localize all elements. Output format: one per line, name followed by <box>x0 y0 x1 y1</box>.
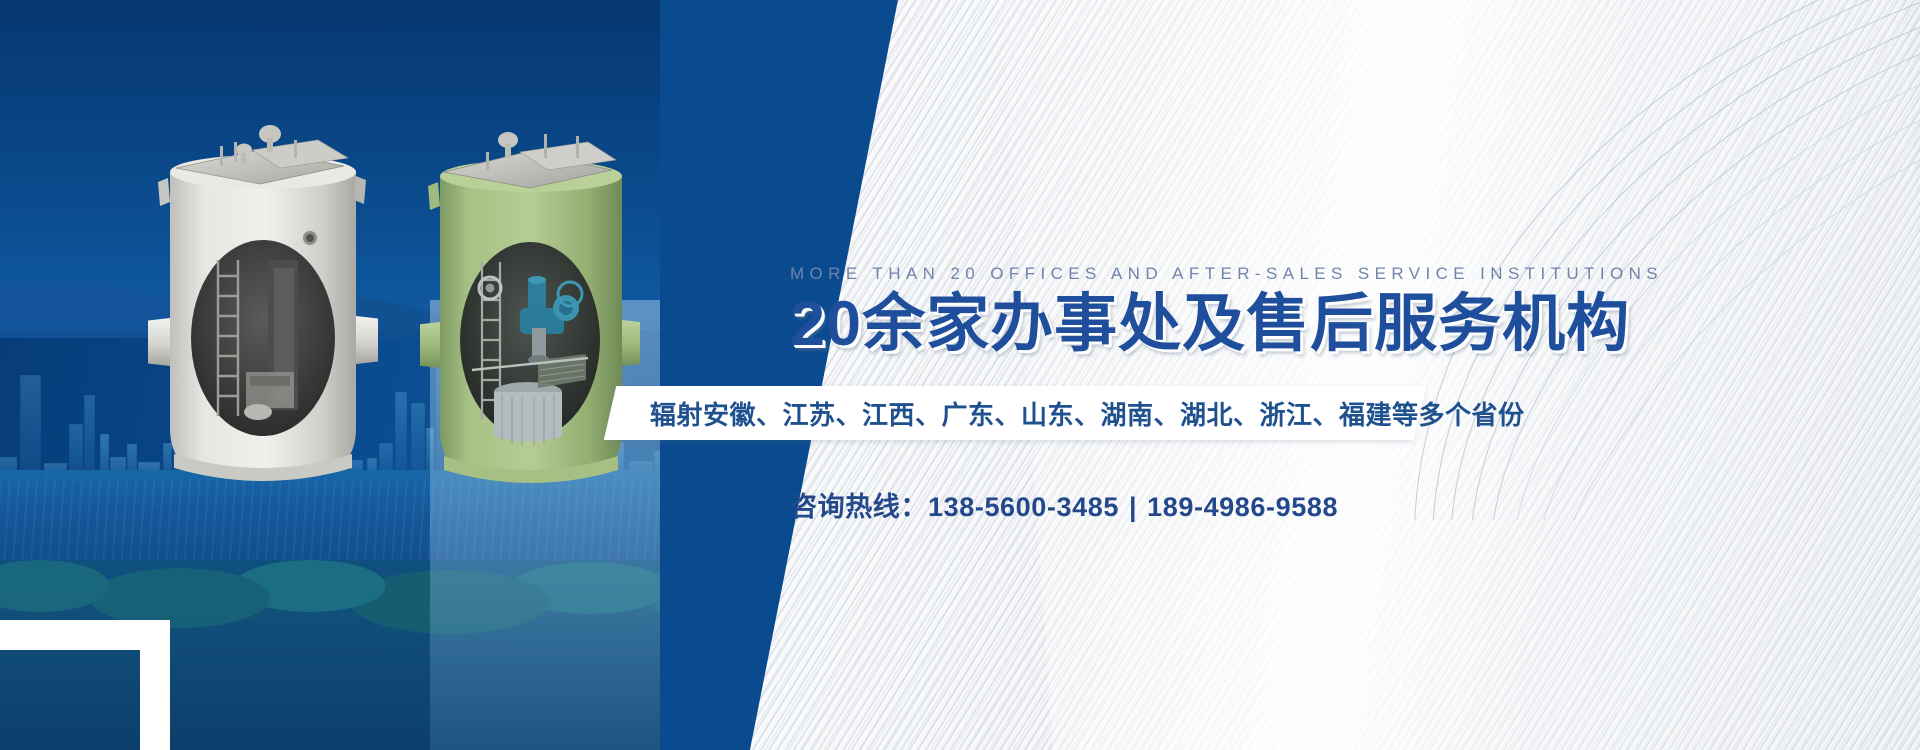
headline-title: 20余家办事处及售后服务机构 <box>790 292 1630 358</box>
callout-province-list: 辐射安徽、江苏、江西、广东、山东、湖南、湖北、浙江、福建等多个省份 <box>650 388 1430 438</box>
promo-banner: MORE THAN 20 OFFICES AND AFTER-SALES SER… <box>0 0 1920 750</box>
hotline-label: 咨询热线： <box>790 492 928 522</box>
hotline-separator: | <box>1119 492 1147 522</box>
hotline-primary-number[interactable]: 138-5600-3485 <box>928 492 1119 522</box>
hotline-secondary-number[interactable]: 189-4986-9588 <box>1147 492 1338 522</box>
hotline-row: 咨询热线：138-5600-3485|189-4986-9588 <box>790 485 1338 524</box>
eyebrow-english-text: MORE THAN 20 OFFICES AND AFTER-SALES SER… <box>790 264 1663 284</box>
banner-content: MORE THAN 20 OFFICES AND AFTER-SALES SER… <box>0 0 1920 750</box>
